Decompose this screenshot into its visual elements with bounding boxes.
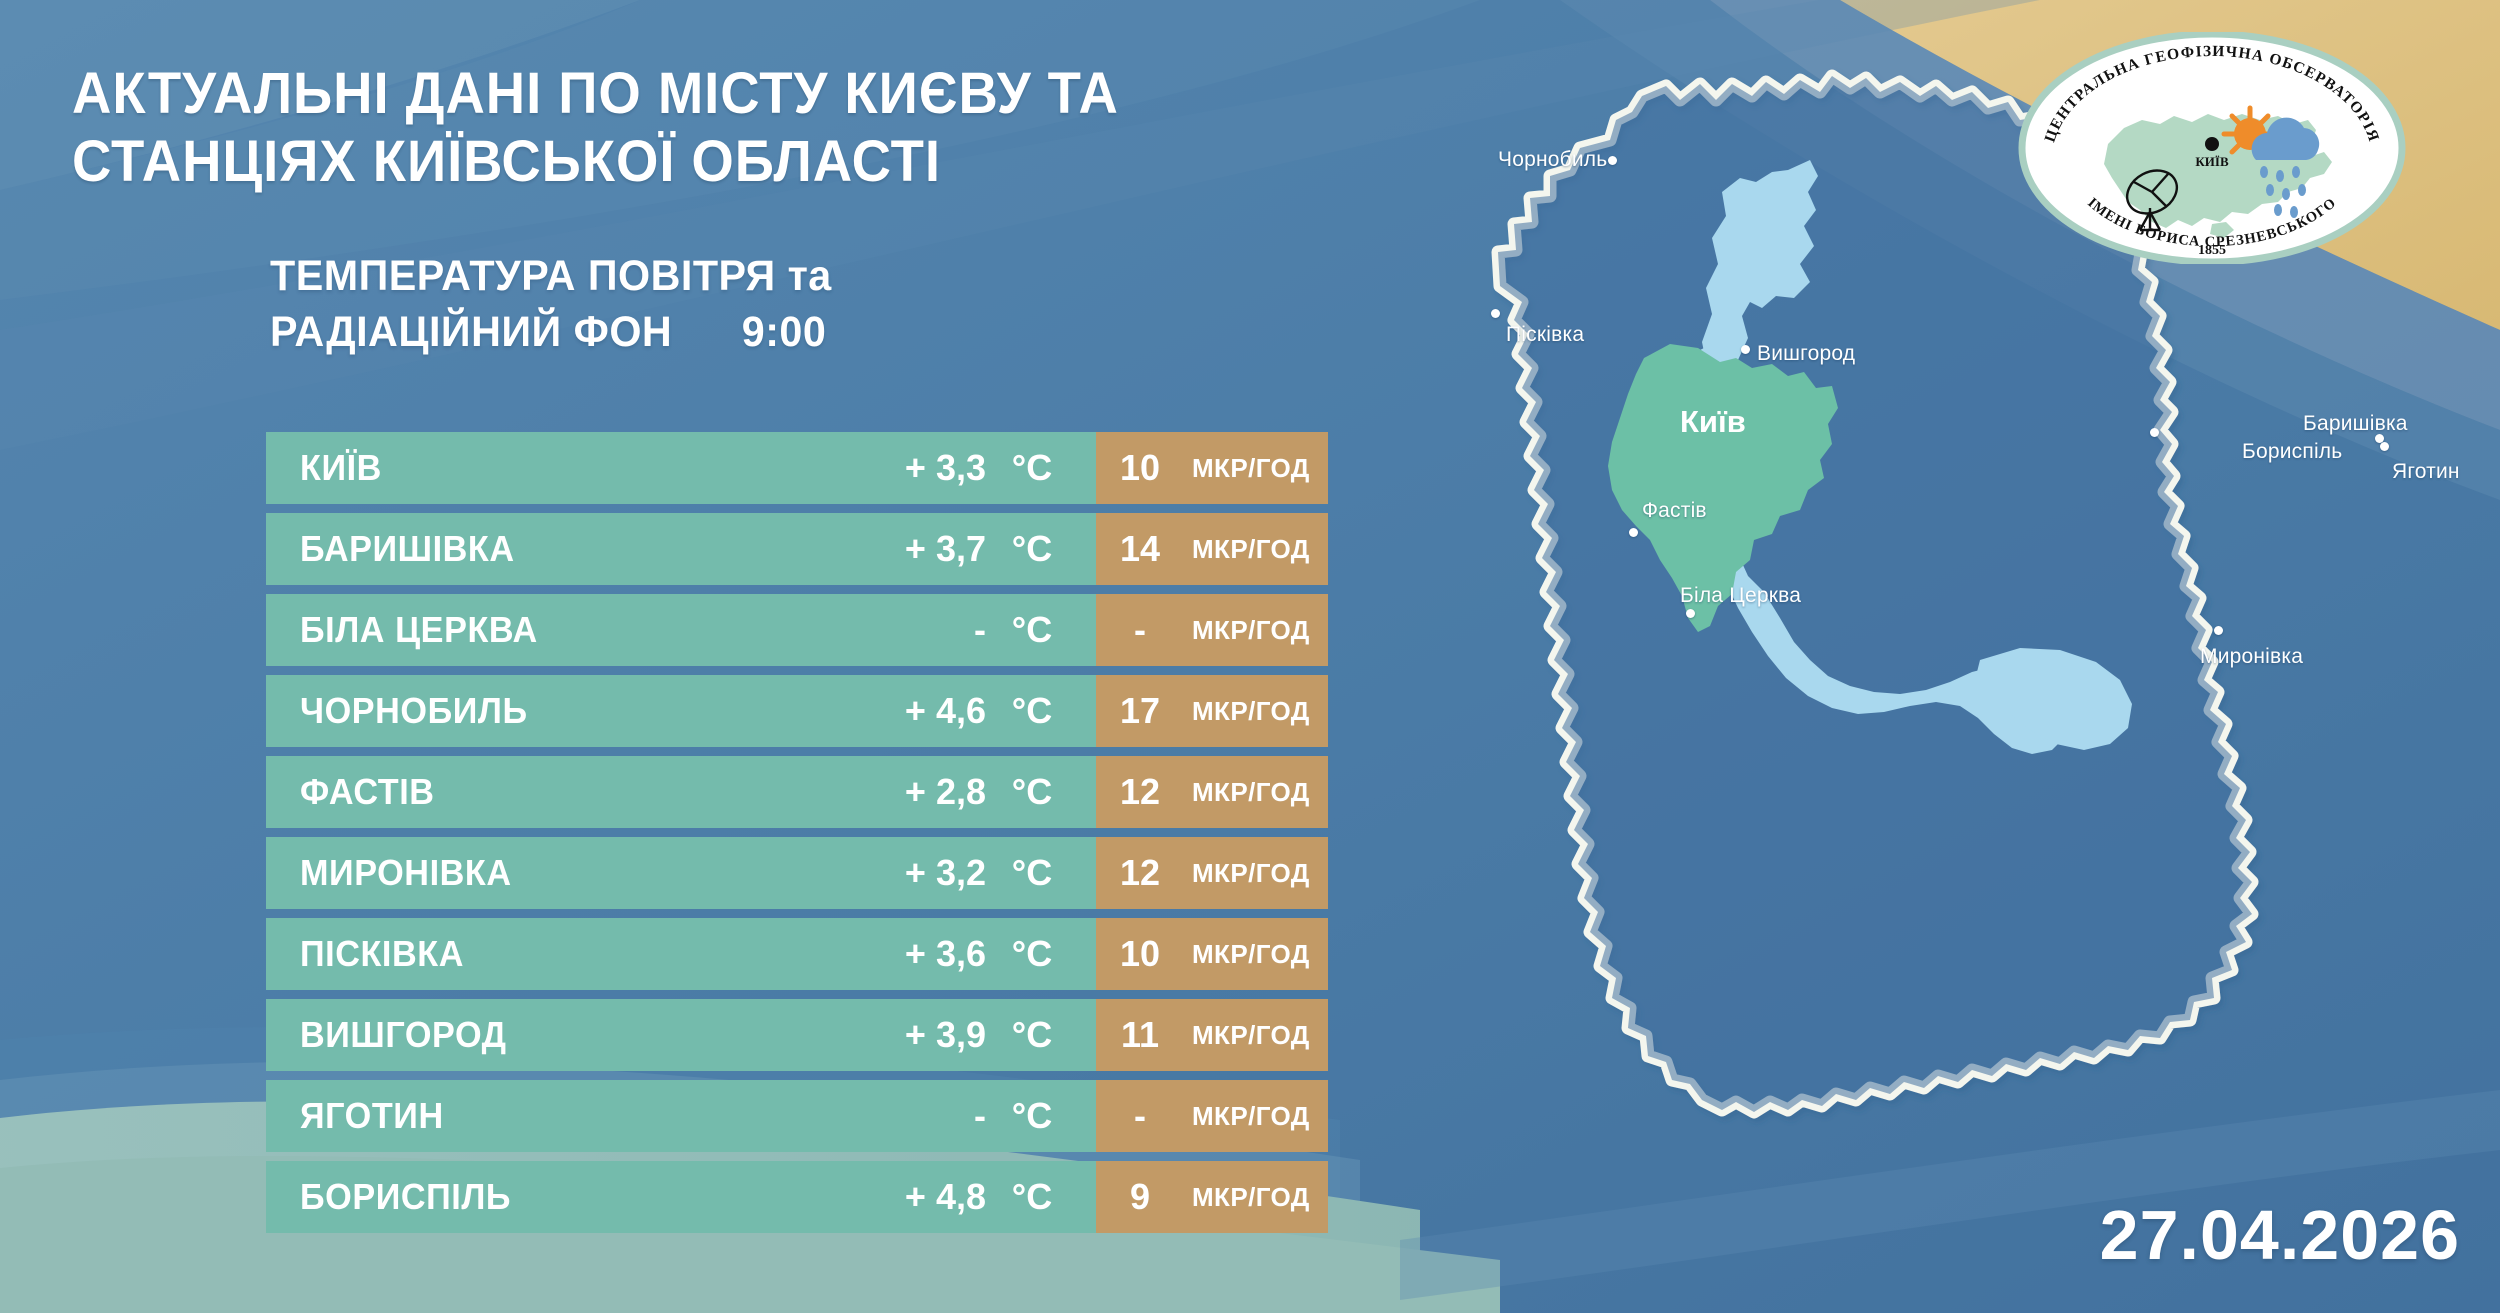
table-row: ЧОРНОБИЛЬ+ 4,6°C17мкр/год [266,675,1326,747]
map-label-myronivka: Миронівка [2200,645,2303,669]
temperature-value: - [856,609,986,651]
title-line-2: СТАНЦІЯХ КИЇВСЬКОЇ ОБЛАСТІ [72,128,1369,196]
radiation-cell: 17мкр/год [1096,675,1328,747]
temperature-unit: °C [986,771,1078,813]
map-label-yahotyn: Яготин [2392,460,2460,484]
map-label-fastiv: Фастів [1642,499,1707,523]
radiation-value: 9 [1096,1176,1184,1218]
measurements-table: КИЇВ+ 3,3°C10мкр/годБАРИШІВКА+ 3,7°C14мк… [266,432,1326,1242]
table-row: БІЛА ЦЕРКВА-°C-мкр/год [266,594,1326,666]
temperature-unit: °C [986,528,1078,570]
radiation-unit: мкр/год [1192,534,1310,565]
radiation-cell: 10мкр/год [1096,432,1328,504]
table-row: МИРОНІВКА+ 3,2°C12мкр/год [266,837,1326,909]
temperature-value: + 3,9 [856,1014,986,1056]
logo-year: 1855 [2198,243,2226,258]
radiation-cell: 14мкр/год [1096,513,1328,585]
radiation-cell: 10мкр/год [1096,918,1328,990]
temperature-cell: КИЇВ+ 3,3°C [266,432,1096,504]
radiation-value: - [1096,609,1184,651]
temperature-unit: °C [986,690,1078,732]
map-label-piskivka: Пісківка [1506,323,1584,347]
table-row: ЯГОТИН-°C-мкр/год [266,1080,1326,1152]
station-name: ФАСТІВ [300,771,435,813]
radiation-cell: 12мкр/год [1096,837,1328,909]
temperature-value: + 4,6 [856,690,986,732]
map-dot-fastiv [1629,528,1638,537]
temperature-cell: ЯГОТИН-°C [266,1080,1096,1152]
temperature-unit: °C [986,852,1078,894]
radiation-cell: 9мкр/год [1096,1161,1328,1233]
map-label-boryspil: Бориспіль [2242,440,2342,464]
temperature-value: + 4,8 [856,1176,986,1218]
temperature-value: + 3,7 [856,528,986,570]
radiation-cell: -мкр/год [1096,594,1328,666]
map-dot-chornobyl [1608,156,1617,165]
temperature-value: + 2,8 [856,771,986,813]
radiation-value: 14 [1096,528,1184,570]
map-label-kyiv: Київ [1680,404,1746,439]
map-dot-myronivka [2214,626,2223,635]
map-label-chornobyl: Чорнобиль [1498,148,1607,172]
station-name: КИЇВ [300,447,382,489]
radiation-unit: мкр/год [1192,777,1310,808]
temperature-value: + 3,2 [856,852,986,894]
observatory-logo: КИЇВ ЦЕНТРАЛЬНА ГЕОФІЗИЧНА ОБСЕРВАТОРІЯ … [2016,32,2408,264]
logo-kyiv-label: КИЇВ [2195,154,2229,169]
temperature-cell: МИРОНІВКА+ 3,2°C [266,837,1096,909]
temperature-cell: ВИШГОРОД+ 3,9°C [266,999,1096,1071]
radiation-cell: 11мкр/год [1096,999,1328,1071]
subtitle-radiation-label: РАДІАЦІЙНИЙ ФОН [270,308,672,356]
radiation-unit: мкр/год [1192,1020,1310,1051]
subtitle-block: ТЕМПЕРАТУРА ПОВІТРЯ та РАДІАЦІЙНИЙ ФОН 9… [270,249,1405,361]
station-name: БАРИШІВКА [300,528,515,570]
station-name: ПІСКІВКА [300,933,464,975]
temperature-value: + 3,6 [856,933,986,975]
table-row: БОРИСПІЛЬ+ 4,8°C9мкр/год [266,1161,1326,1233]
logo-graphic: КИЇВ ЦЕНТРАЛЬНА ГЕОФІЗИЧНА ОБСЕРВАТОРІЯ … [2016,32,2408,264]
map-label-bila-tserkva: Біла Церква [1680,584,1801,608]
radiation-unit: мкр/год [1192,696,1310,727]
radiation-unit: мкр/год [1192,453,1310,484]
measurement-time: 9:00 [742,308,827,356]
temperature-cell: ПІСКІВКА+ 3,6°C [266,918,1096,990]
subtitle-temperature-label: ТЕМПЕРАТУРА ПОВІТРЯ [270,252,776,300]
temperature-cell: БІЛА ЦЕРКВА-°C [266,594,1096,666]
map-dot-boryspil [2150,428,2159,437]
title-block: АКТУАЛЬНІ ДАНІ ПО МІСТУ КИЄВУ ТА СТАНЦІЯ… [72,60,1452,361]
temperature-cell: БАРИШІВКА+ 3,7°C [266,513,1096,585]
temperature-unit: °C [986,609,1078,651]
radiation-value: - [1096,1095,1184,1137]
radiation-value: 12 [1096,771,1184,813]
temperature-unit: °C [986,447,1078,489]
radiation-cell: 12мкр/год [1096,756,1328,828]
temperature-cell: ЧОРНОБИЛЬ+ 4,6°C [266,675,1096,747]
map-dot-bila-tserkva [1686,609,1695,618]
radiation-value: 17 [1096,690,1184,732]
report-date: 27.04.2026 [2100,1195,2460,1275]
radiation-value: 10 [1096,933,1184,975]
map-dot-piskivka [1491,309,1500,318]
station-name: МИРОНІВКА [300,852,512,894]
table-row: ВИШГОРОД+ 3,9°C11мкр/год [266,999,1326,1071]
radiation-unit: мкр/год [1192,1182,1310,1213]
radiation-unit: мкр/год [1192,858,1310,889]
station-name: ВИШГОРОД [300,1014,507,1056]
subtitle-conjunction: та [788,252,832,300]
table-row: КИЇВ+ 3,3°C10мкр/год [266,432,1326,504]
map-label-baryshivka: Баришівка [2303,412,2408,436]
logo-kyiv-dot [2205,137,2219,151]
temperature-value: + 3,3 [856,447,986,489]
radiation-value: 10 [1096,447,1184,489]
map-dot-yahotyn [2380,442,2389,451]
temperature-cell: БОРИСПІЛЬ+ 4,8°C [266,1161,1096,1233]
station-name: БОРИСПІЛЬ [300,1176,511,1218]
temperature-unit: °C [986,933,1078,975]
page-title: АКТУАЛЬНІ ДАНІ ПО МІСТУ КИЄВУ ТА СТАНЦІЯ… [72,60,1369,197]
radiation-unit: мкр/год [1192,939,1310,970]
subtitle-line-2: РАДІАЦІЙНИЙ ФОН 9:00 [270,305,1405,361]
temperature-value: - [856,1095,986,1137]
temperature-unit: °C [986,1095,1078,1137]
map-dot-vyshhorod [1741,345,1750,354]
temperature-unit: °C [986,1014,1078,1056]
radiation-value: 12 [1096,852,1184,894]
table-row: БАРИШІВКА+ 3,7°C14мкр/год [266,513,1326,585]
station-name: ЯГОТИН [300,1095,444,1137]
table-row: ПІСКІВКА+ 3,6°C10мкр/год [266,918,1326,990]
radiation-cell: -мкр/год [1096,1080,1328,1152]
station-name: БІЛА ЦЕРКВА [300,609,538,651]
radiation-unit: мкр/год [1192,1101,1310,1132]
title-line-1: АКТУАЛЬНІ ДАНІ ПО МІСТУ КИЄВУ ТА [72,60,1369,128]
radiation-unit: мкр/год [1192,615,1310,646]
table-row: ФАСТІВ+ 2,8°C12мкр/год [266,756,1326,828]
radiation-value: 11 [1096,1014,1184,1056]
map-label-vyshhorod: Вишгород [1757,342,1855,366]
temperature-unit: °C [986,1176,1078,1218]
station-name: ЧОРНОБИЛЬ [300,690,528,732]
temperature-cell: ФАСТІВ+ 2,8°C [266,756,1096,828]
subtitle-line-1: ТЕМПЕРАТУРА ПОВІТРЯ та [270,249,1405,305]
